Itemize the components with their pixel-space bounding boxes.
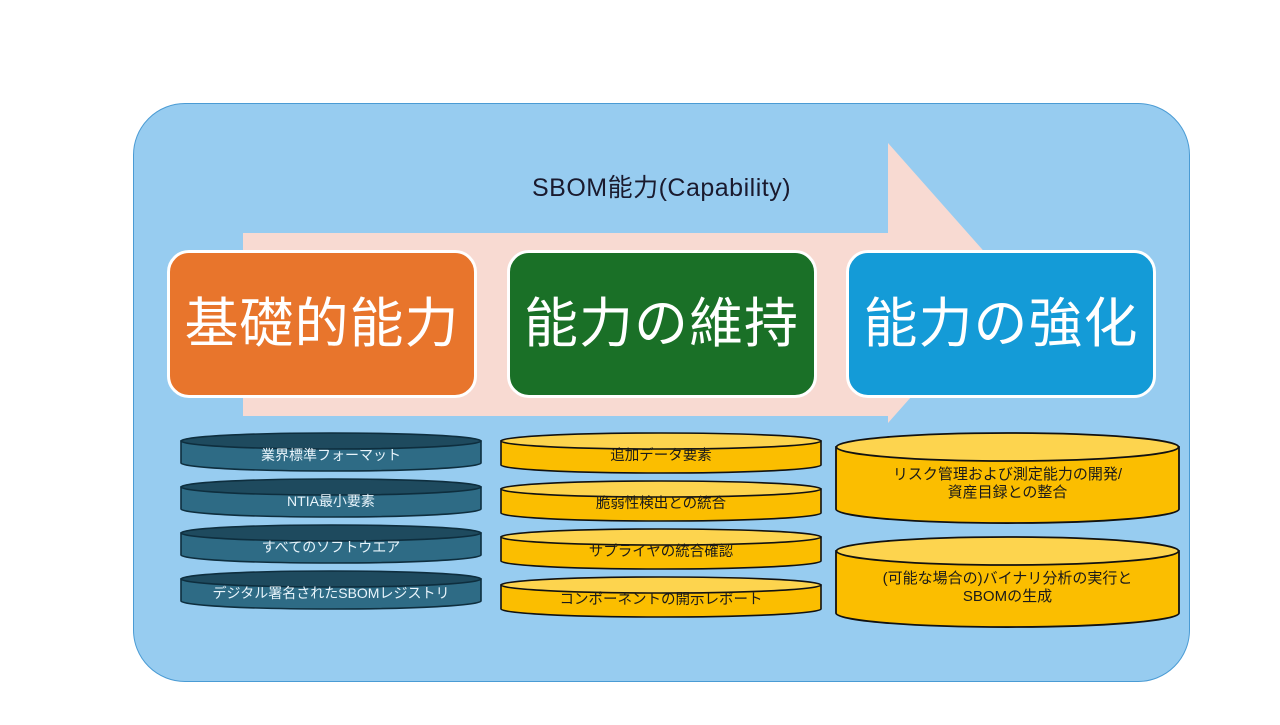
cylinder-label: サプライヤの統合確認 bbox=[500, 537, 822, 568]
cylinder-label: 脆弱性検出との統合 bbox=[500, 489, 822, 520]
cylinder-label: 業界標準フォーマット bbox=[180, 441, 482, 470]
cylinder-item[interactable]: コンポーネントの開示レポート bbox=[500, 576, 822, 618]
cylinder-item[interactable]: NTIA最小要素 bbox=[180, 478, 482, 518]
cylinder-item[interactable]: リスク管理および測定能力の開発/ 資産目録との整合 bbox=[835, 432, 1180, 524]
sbom-capability-diagram: SBOM能力(Capability) 基礎的能力 能力の維持 能力の強化 業界標… bbox=[0, 0, 1280, 720]
stage-label-maintain: 能力の維持 bbox=[524, 297, 799, 351]
cylinder-item[interactable]: 追加データ要素 bbox=[500, 432, 822, 474]
stage-row: 基礎的能力 能力の維持 能力の強化 bbox=[167, 250, 1156, 398]
capability-columns: 業界標準フォーマット NTIA最小要素 すべてのソフトウエア bbox=[180, 432, 1180, 632]
cylinder-item[interactable]: 脆弱性検出との統合 bbox=[500, 480, 822, 522]
cylinder-item[interactable]: すべてのソフトウエア bbox=[180, 524, 482, 564]
cylinder-item[interactable]: 業界標準フォーマット bbox=[180, 432, 482, 472]
column-foundational-items: 業界標準フォーマット NTIA最小要素 すべてのソフトウエア bbox=[180, 432, 482, 616]
stage-label-foundational: 基礎的能力 bbox=[185, 297, 460, 351]
cylinder-label: デジタル署名されたSBOMレジストリ bbox=[180, 579, 482, 608]
stage-label-enhance: 能力の強化 bbox=[864, 297, 1139, 351]
cylinder-label: リスク管理および測定能力の開発/ 資産目録との整合 bbox=[835, 450, 1180, 518]
stage-box-maintain[interactable]: 能力の維持 bbox=[507, 250, 817, 398]
stage-box-enhance[interactable]: 能力の強化 bbox=[846, 250, 1156, 398]
cylinder-item[interactable]: (可能な場合の)バイナリ分析の実行と SBOMの生成 bbox=[835, 536, 1180, 628]
column-maintain-items: 追加データ要素 脆弱性検出との統合 サプライヤの統合確認 bbox=[500, 432, 822, 624]
cylinder-label: コンポーネントの開示レポート bbox=[500, 585, 822, 616]
cylinder-label: NTIA最小要素 bbox=[180, 487, 482, 516]
cylinder-label: 追加データ要素 bbox=[500, 441, 822, 472]
cylinder-item[interactable]: デジタル署名されたSBOMレジストリ bbox=[180, 570, 482, 610]
page-title: SBOM能力(Capability) bbox=[133, 168, 1190, 204]
stage-box-foundational[interactable]: 基礎的能力 bbox=[167, 250, 477, 398]
column-enhance-items: リスク管理および測定能力の開発/ 資産目録との整合 (可能な場合の)バイナリ分析… bbox=[835, 432, 1180, 640]
cylinder-label: (可能な場合の)バイナリ分析の実行と SBOMの生成 bbox=[835, 554, 1180, 622]
cylinder-item[interactable]: サプライヤの統合確認 bbox=[500, 528, 822, 570]
cylinder-label: すべてのソフトウエア bbox=[180, 533, 482, 562]
